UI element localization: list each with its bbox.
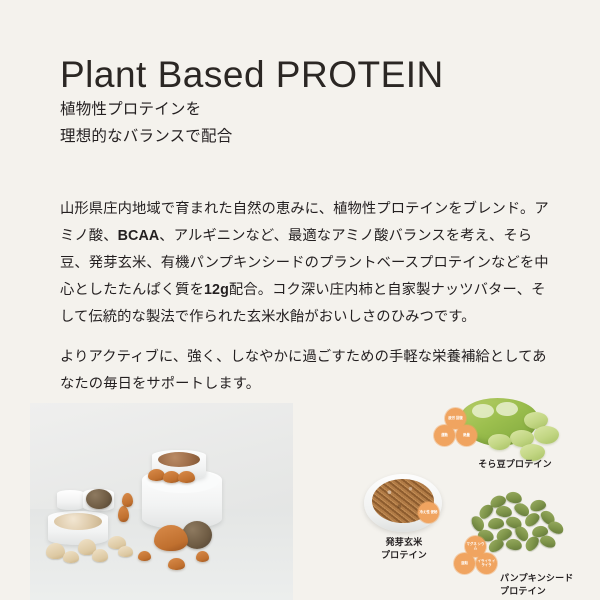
subtitle: 植物性プロテインを 理想的なバランスで配合 [60, 97, 232, 150]
body-emphasis-bcaa: BCAA [118, 228, 160, 244]
badge-label: 冷え性 便秘 [420, 511, 438, 515]
badge-exercise: 運動 [434, 425, 455, 446]
photo-almond [178, 471, 195, 483]
fava-badge-cluster: 疲労 回復 運動 熱量 [432, 408, 482, 448]
badge-zinc: 亜鉛 [454, 553, 475, 574]
photo-date-cluster [154, 525, 188, 551]
brown-rice-caption-line-1: 発芽玄米 [360, 536, 448, 549]
photo-almond [118, 506, 129, 522]
body-paragraph-2: よりアクティブに、強く、しなやかに過ごすための手軽な栄養補給としてあなたの毎日を… [60, 344, 550, 398]
page-title: Plant Based PROTEIN [60, 55, 444, 96]
badge-label: 熱量 [463, 434, 470, 438]
fava-caption-line-1: そら豆プロテイン [460, 458, 570, 471]
pumpkin-badge-cluster: マグネ シウム 亜鉛 イライラ イライラ [452, 536, 502, 576]
product-photo [30, 403, 293, 600]
badge-label: 運動 [441, 434, 448, 438]
photo-almond [168, 558, 185, 570]
photo-cashew [118, 546, 133, 557]
pumpkin-caption: パンプキンシード プロテイン [500, 572, 600, 598]
product-description-page: Plant Based PROTEIN 植物性プロテインを 理想的なバランスで配… [0, 0, 600, 600]
body-copy: 山形県庄内地域で育まれた自然の恵みに、植物性プロテインをブレンド。アミノ酸、BC… [60, 196, 550, 398]
fava-bean-image [534, 426, 559, 444]
pumpkin-caption-line-1: パンプキンシード [500, 572, 600, 585]
photo-energy-ball [86, 489, 112, 509]
photo-chocolate-paste [158, 452, 200, 467]
brown-rice-caption: 発芽玄米 プロテイン [360, 536, 448, 562]
badge-calorie: 熱量 [456, 425, 477, 446]
fava-bean-image [488, 434, 511, 450]
badge-irritation: イライラ イライラ [476, 553, 497, 574]
pumpkin-seed-image [546, 519, 565, 536]
badge-label: マグネ シウム [465, 543, 486, 551]
badge-label: イライラ イライラ [476, 560, 497, 568]
photo-nut-butter [54, 513, 102, 530]
photo-almond [138, 551, 151, 561]
fava-caption: そら豆プロテイン [460, 458, 570, 471]
body-emphasis-protein-amount: 12g [204, 282, 229, 298]
photo-cashew [63, 551, 79, 563]
fava-pod-cavity [496, 402, 518, 416]
brown-rice-badge-cluster: 冷え性 便秘 [418, 502, 444, 528]
brown-rice-caption-line-2: プロテイン [360, 549, 448, 562]
subtitle-line-2: 理想的なバランスで配合 [60, 124, 232, 151]
ingredient-fava-bean: 疲労 回復 運動 熱量 そら豆プロテイン [432, 396, 600, 476]
photo-cup-small-left [57, 490, 84, 510]
pumpkin-seed-image [539, 533, 558, 549]
badge-label: 亜鉛 [461, 562, 468, 566]
badge-label: 疲労 回復 [448, 417, 463, 421]
body-paragraph-1: 山形県庄内地域で育まれた自然の恵みに、植物性プロテインをブレンド。アミノ酸、BC… [60, 196, 550, 330]
photo-almond [122, 493, 133, 507]
photo-cashew [92, 549, 108, 562]
photo-almond [196, 551, 209, 562]
subtitle-line-1: 植物性プロテインを [60, 97, 232, 124]
ingredient-pumpkin-seed: マグネ シウム 亜鉛 イライラ イライラ パンプキンシード プロテイン [452, 492, 600, 600]
badge-cold-constipation: 冷え性 便秘 [418, 502, 439, 523]
pumpkin-caption-line-2: プロテイン [500, 585, 600, 598]
